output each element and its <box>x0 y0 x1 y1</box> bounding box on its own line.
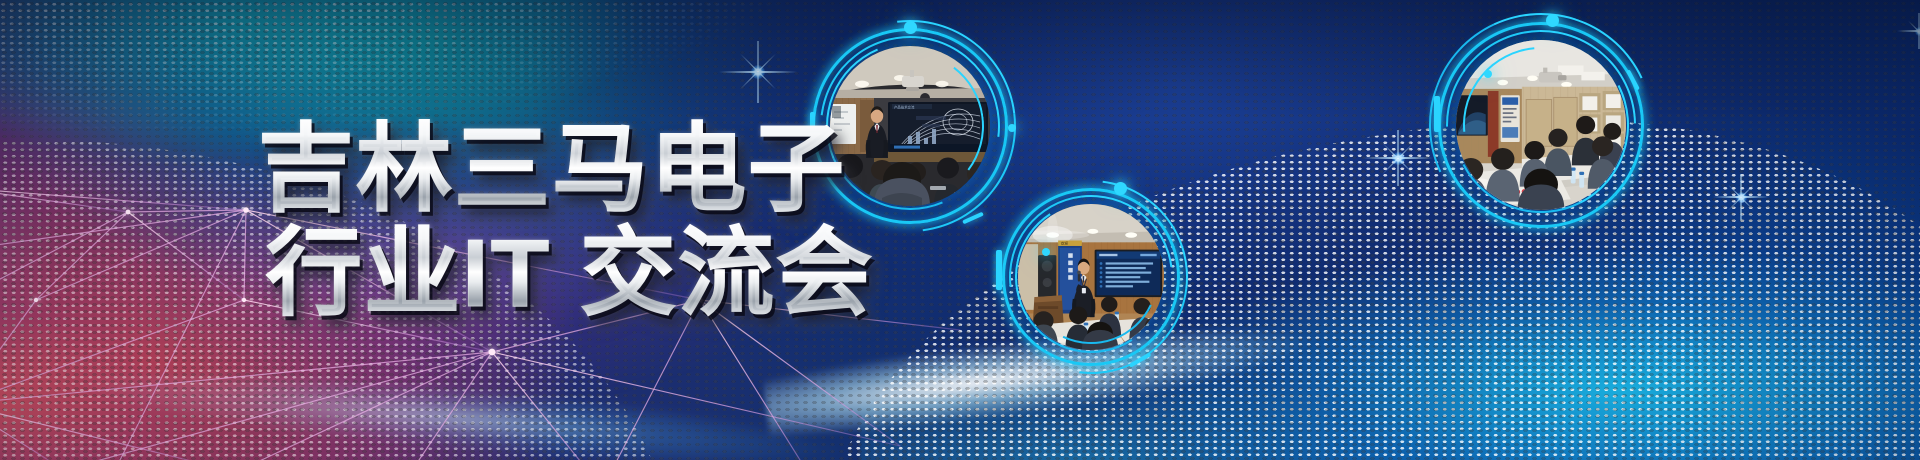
photo-ring-node <box>904 21 917 34</box>
headline-block: 吉林三马电子 行业IT 交流会 <box>258 118 878 326</box>
event-banner: 吉林三马电子 行业IT 交流会 <box>0 0 1920 460</box>
photo-circle-speaker-with-microphone: 欢迎 <box>1002 188 1180 366</box>
photo-ring-tick <box>1434 96 1440 132</box>
headline-line-1: 吉林三马电子 <box>258 118 878 222</box>
photo-ring-node <box>1114 182 1127 195</box>
photo-ring-node-small <box>1042 248 1050 256</box>
photo-ring-node <box>1546 14 1559 27</box>
photo-circle-training-room-attendees <box>1438 22 1644 228</box>
headline-line-2: 行业IT 交流会 <box>258 222 878 326</box>
photo-ring-node-small <box>1008 124 1016 132</box>
photo-ring-tick <box>996 250 1002 290</box>
photo-ring-node-small <box>1484 70 1492 78</box>
